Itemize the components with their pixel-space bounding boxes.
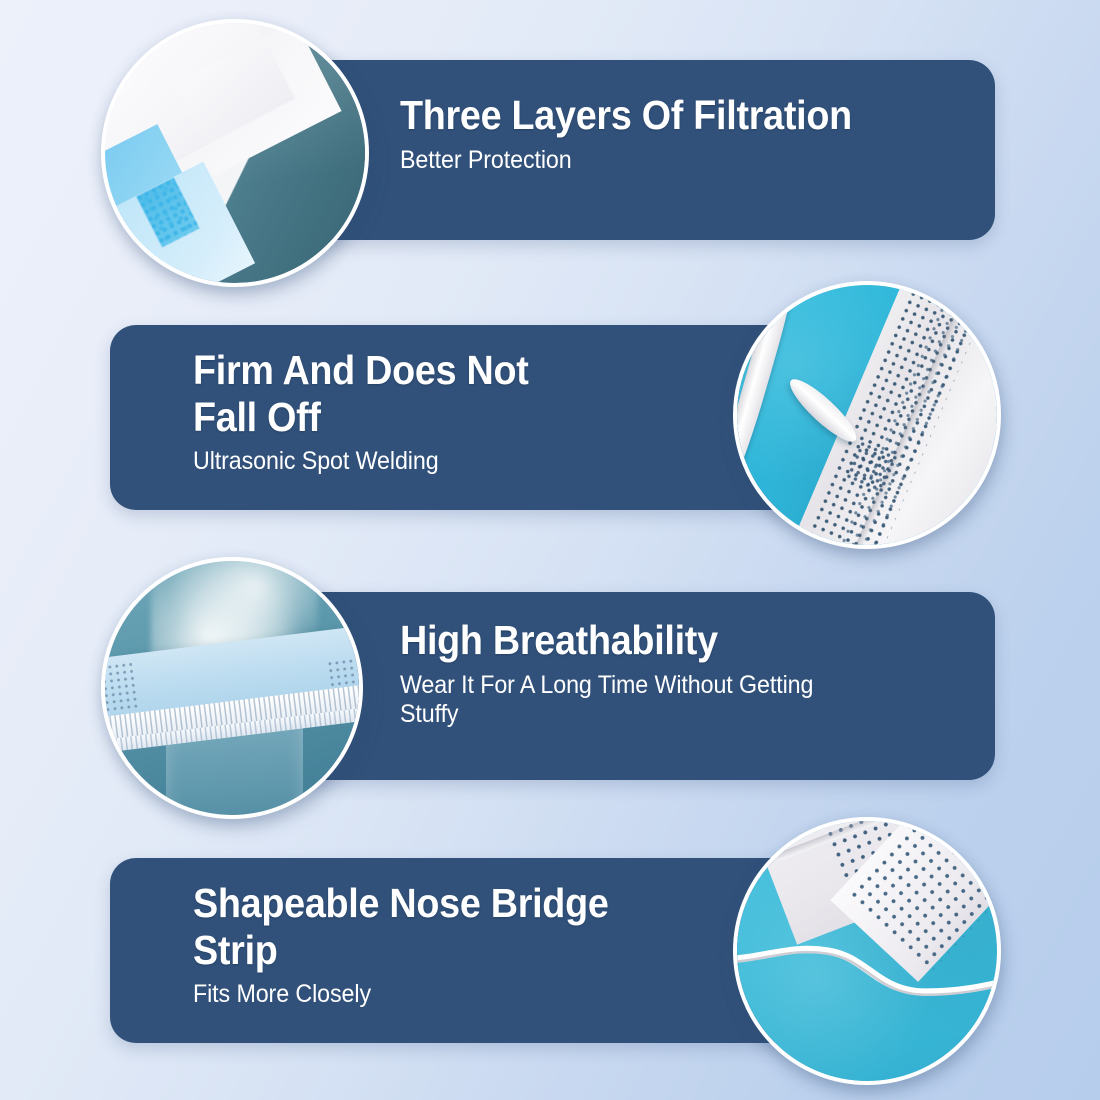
feature-title-4: Shapeable Nose Bridge Strip (193, 880, 708, 973)
product-feature-infographic: Three Layers Of Filtration Better Protec… (0, 0, 1100, 1100)
nose-bridge-strip-photo (733, 817, 1001, 1085)
feature-subtitle-3: Wear It For A Long Time Without Getting … (400, 671, 921, 730)
nose-bridge-strip-shape (737, 936, 997, 1003)
feature-text-3: High Breathability Wear It For A Long Ti… (400, 617, 960, 730)
feature-text-4: Shapeable Nose Bridge Strip Fits More Cl… (193, 880, 753, 1010)
feature-title-3: High Breathability (400, 617, 915, 664)
feature-subtitle-2: Ultrasonic Spot Welding (193, 447, 714, 477)
feature-text-2: Firm And Does Not Fall Off Ultrasonic Sp… (193, 347, 753, 477)
breathability-steam-test-photo (101, 557, 363, 819)
feature-title-2: Firm And Does Not Fall Off (193, 347, 708, 440)
feature-subtitle-4: Fits More Closely (193, 980, 714, 1010)
feature-row-4: Shapeable Nose Bridge Strip Fits More Cl… (0, 0, 1100, 300)
ultrasonic-spot-welding-photo (733, 281, 1001, 549)
